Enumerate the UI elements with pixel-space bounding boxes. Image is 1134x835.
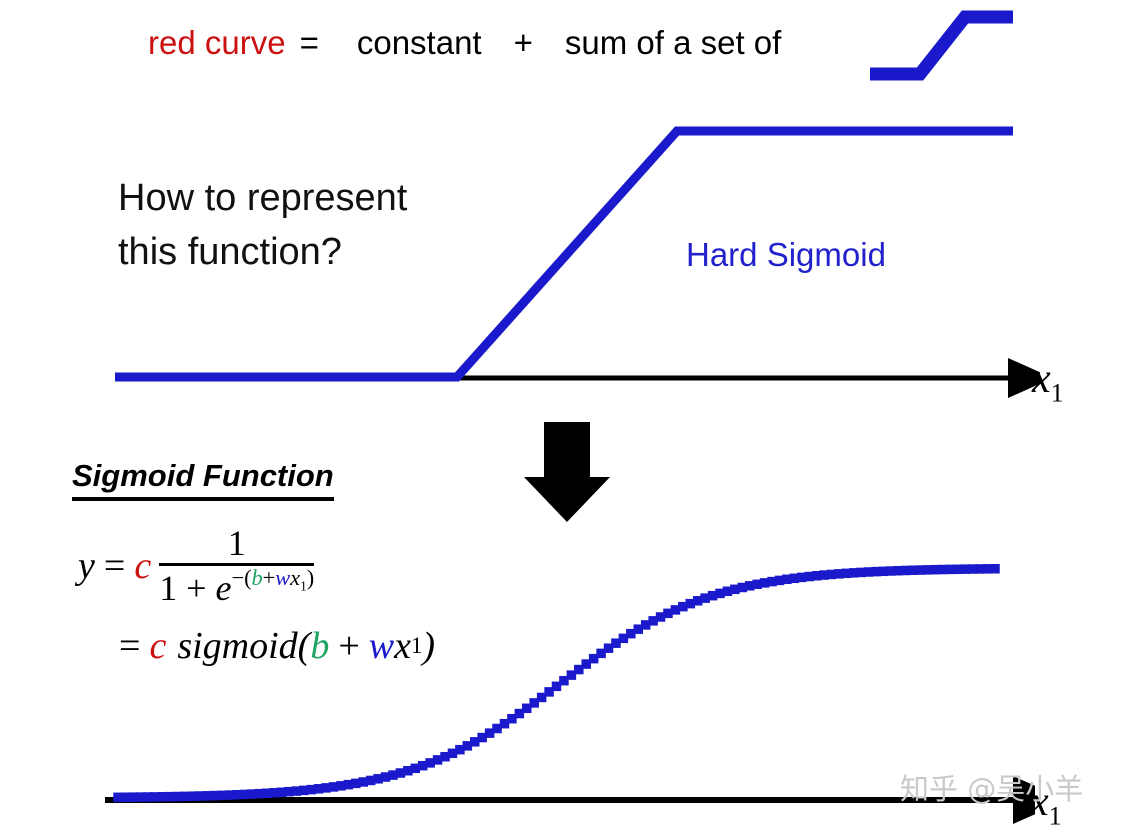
slide-canvas: red curve = constant + sum of a set of H… (0, 0, 1134, 835)
hard-sigmoid-thumbnail-icon (860, 0, 1034, 100)
down-arrow-icon (515, 415, 625, 530)
formula1-lhs: y (78, 544, 95, 588)
question-line-1: How to represent (118, 172, 518, 226)
down-arrow-shape (524, 422, 610, 522)
x-axis-label-top-var: x (1032, 356, 1051, 402)
x-axis-label-top-subscript: 1 (1051, 378, 1064, 407)
sum-term: sum of a set of (533, 24, 781, 62)
x-axis-label-top: x1 (1032, 355, 1064, 408)
question-line-2: this function? (118, 226, 518, 280)
red-curve-term: red curve (0, 24, 286, 62)
watermark: 知乎 @吴小羊 (900, 766, 1083, 808)
thumbnail-curve-path (870, 17, 1013, 74)
logistic-sigmoid-chart (95, 540, 1035, 830)
sigmoid-function-heading: Sigmoid Function (72, 458, 334, 501)
hard-sigmoid-label: Hard Sigmoid (686, 236, 886, 274)
question-text: How to represent this function? (118, 172, 518, 280)
constant-term: constant (319, 24, 482, 62)
sigmoid-dot-series (113, 564, 1000, 802)
equals-sign: = (286, 24, 319, 62)
plus-sign: + (482, 24, 533, 62)
sigmoid-dot (990, 564, 1000, 574)
top-equation-line: red curve = constant + sum of a set of (0, 18, 870, 68)
